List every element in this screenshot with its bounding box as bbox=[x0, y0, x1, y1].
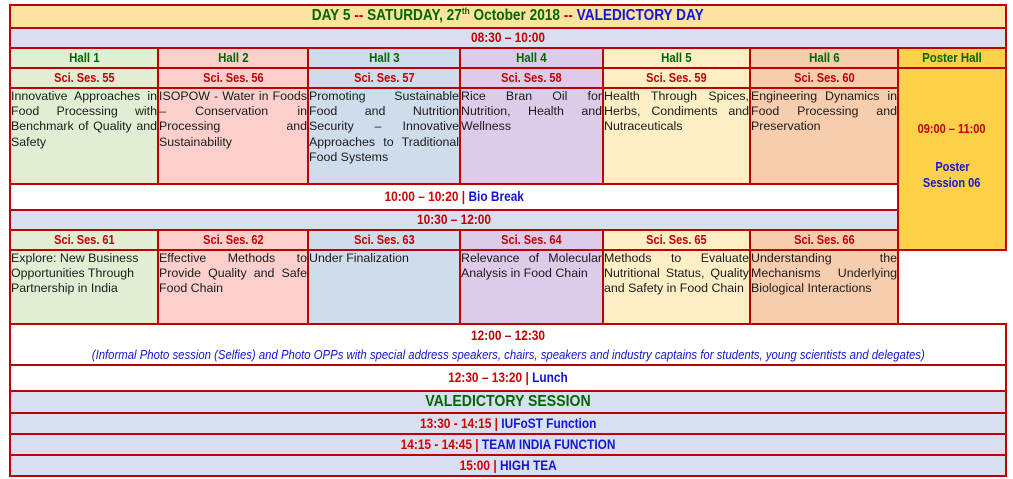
day-date: SATURDAY, 27th October 2018 bbox=[367, 7, 560, 24]
session-topic-61: Explore: New Business Opportunities Thro… bbox=[10, 250, 158, 324]
session-number-66: Sci. Ses. 66 bbox=[750, 230, 898, 250]
session-number-64: Sci. Ses. 64 bbox=[460, 230, 603, 250]
hall-header-hall-1: Hall 1 bbox=[10, 48, 158, 68]
session-number-58: Sci. Ses. 58 bbox=[460, 68, 603, 88]
day-title-separator-1: -- bbox=[354, 7, 363, 24]
lunch-label: Lunch bbox=[532, 370, 568, 385]
valedictory-cell-1: 13:30 - 14:15 | IUFoST Function bbox=[10, 413, 1006, 434]
conference-schedule-table: DAY 5 -- SATURDAY, 27th October 2018 -- … bbox=[9, 4, 1007, 477]
session-number-56: Sci. Ses. 56 bbox=[158, 68, 308, 88]
session2-time: 10:30 – 12:00 bbox=[417, 211, 491, 228]
day-title-cell: DAY 5 -- SATURDAY, 27th October 2018 -- … bbox=[10, 5, 1006, 28]
bio-break-divider: | bbox=[462, 189, 465, 204]
session2-topic-row: Explore: New Business Opportunities Thro… bbox=[10, 250, 1006, 324]
session1-time-cell: 08:30 – 10:00 bbox=[10, 28, 1006, 48]
valedictory-divider-1: | bbox=[494, 416, 497, 431]
poster-session-label-line2: Session 06 bbox=[923, 176, 980, 191]
photo-session-note: (Informal Photo session (Selfies) and Ph… bbox=[92, 346, 925, 364]
session-number-59: Sci. Ses. 59 bbox=[603, 68, 750, 88]
hall-header-hall-2: Hall 2 bbox=[158, 48, 308, 68]
valedictory-label-2: TEAM INDIA FUNCTION bbox=[482, 437, 616, 452]
hall-header-hall-5: Hall 5 bbox=[603, 48, 750, 68]
lunch-cell: 12:30 – 13:20 | Lunch bbox=[10, 365, 1006, 391]
valedictory-divider-3: | bbox=[493, 458, 496, 473]
session-topic-60: Engineering Dynamics in Food Processing … bbox=[750, 88, 898, 184]
lunch-divider: | bbox=[526, 370, 529, 385]
session-number-62: Sci. Ses. 62 bbox=[158, 230, 308, 250]
valedictory-divider-2: | bbox=[475, 437, 478, 452]
session-topic-57: Promoting Sustainable Food and Nutrition… bbox=[308, 88, 460, 184]
bio-break-label: Bio Break bbox=[468, 189, 523, 204]
day-number: DAY 5 bbox=[312, 7, 351, 24]
poster-session-label-line1: Poster bbox=[935, 160, 969, 175]
bio-break-time: 10:00 – 10:20 bbox=[384, 189, 458, 204]
session-topic-59: Health Through Spices, Herbs, Condiments… bbox=[603, 88, 750, 184]
valedictory-heading: VALEDICTORY SESSION bbox=[425, 392, 590, 412]
session1-time: 08:30 – 10:00 bbox=[471, 29, 545, 46]
session-topic-62: Effective Methods to Provide Quality and… bbox=[158, 250, 308, 324]
session2-time-cell: 10:30 – 12:00 bbox=[10, 210, 898, 230]
session-topic-64: Relevance of Molecular Analysis in Food … bbox=[460, 250, 603, 324]
session1-number-row: Sci. Ses. 55 Sci. Ses. 56 Sci. Ses. 57 S… bbox=[10, 68, 1006, 88]
poster-session-cell: 09:00 – 11:00 Poster Session 06 bbox=[898, 68, 1006, 250]
bio-break-cell: 10:00 – 10:20 | Bio Break bbox=[10, 184, 898, 210]
hall-header-poster-hall: Poster Hall bbox=[898, 48, 1006, 68]
photo-session-row: 12:00 – 12:30 (Informal Photo session (S… bbox=[10, 324, 1006, 365]
session-topic-65: Methods to Evaluate Nutritional Status, … bbox=[603, 250, 750, 324]
session-number-57: Sci. Ses. 57 bbox=[308, 68, 460, 88]
valedictory-row-2: 14:15 - 14:45 | TEAM INDIA FUNCTION bbox=[10, 434, 1006, 455]
session-topic-55: Innovative Approaches in Food Processing… bbox=[10, 88, 158, 184]
session-topic-58: Rice Bran Oil for Nutrition, Health and … bbox=[460, 88, 603, 184]
photo-session-time: 12:00 – 12:30 bbox=[471, 325, 545, 346]
valedictory-label-3: HIGH TEA bbox=[500, 458, 557, 473]
bio-break-row: 10:00 – 10:20 | Bio Break bbox=[10, 184, 1006, 210]
session-number-61: Sci. Ses. 61 bbox=[10, 230, 158, 250]
poster-spacer bbox=[899, 137, 1005, 159]
valedictory-heading-row: VALEDICTORY SESSION bbox=[10, 391, 1006, 413]
poster-session-time: 09:00 – 11:00 bbox=[918, 121, 986, 137]
day-title-highlight: VALEDICTORY DAY bbox=[577, 7, 704, 24]
hall-header-hall-6: Hall 6 bbox=[750, 48, 898, 68]
session2-time-row: 10:30 – 12:00 bbox=[10, 210, 1006, 230]
lunch-time: 12:30 – 13:20 bbox=[448, 370, 522, 385]
session1-time-row: 08:30 – 10:00 bbox=[10, 28, 1006, 48]
valedictory-time-3: 15:00 bbox=[459, 458, 489, 473]
valedictory-label-1: IUFoST Function bbox=[501, 416, 596, 431]
lunch-row: 12:30 – 13:20 | Lunch bbox=[10, 365, 1006, 391]
session-number-65: Sci. Ses. 65 bbox=[603, 230, 750, 250]
valedictory-cell-2: 14:15 - 14:45 | TEAM INDIA FUNCTION bbox=[10, 434, 1006, 455]
valedictory-time-1: 13:30 - 14:15 bbox=[420, 416, 491, 431]
session1-topic-row: Innovative Approaches in Food Processing… bbox=[10, 88, 1006, 184]
session2-number-row: Sci. Ses. 61 Sci. Ses. 62 Sci. Ses. 63 S… bbox=[10, 230, 1006, 250]
valedictory-row-3: 15:00 | HIGH TEA bbox=[10, 455, 1006, 476]
day-title-row: DAY 5 -- SATURDAY, 27th October 2018 -- … bbox=[10, 5, 1006, 28]
hall-header-hall-3: Hall 3 bbox=[308, 48, 460, 68]
valedictory-row-1: 13:30 - 14:15 | IUFoST Function bbox=[10, 413, 1006, 434]
hall-header-row: Hall 1 Hall 2 Hall 3 Hall 4 Hall 5 Hall … bbox=[10, 48, 1006, 68]
valedictory-heading-cell: VALEDICTORY SESSION bbox=[10, 391, 1006, 413]
day-title-separator-2: -- bbox=[564, 7, 573, 24]
session-topic-66: Understanding the Mechanisms Underlying … bbox=[750, 250, 898, 324]
session-number-55: Sci. Ses. 55 bbox=[10, 68, 158, 88]
valedictory-cell-3: 15:00 | HIGH TEA bbox=[10, 455, 1006, 476]
photo-session-cell: 12:00 – 12:30 (Informal Photo session (S… bbox=[10, 324, 1006, 365]
hall-header-hall-4: Hall 4 bbox=[460, 48, 603, 68]
session-topic-56: ISOPOW - Water in Foods – Conservation i… bbox=[158, 88, 308, 184]
session-number-63: Sci. Ses. 63 bbox=[308, 230, 460, 250]
poster-session-content: 09:00 – 11:00 Poster Session 06 bbox=[899, 69, 1005, 191]
valedictory-time-2: 14:15 - 14:45 bbox=[401, 437, 472, 452]
session-number-60: Sci. Ses. 60 bbox=[750, 68, 898, 88]
session-topic-63: Under Finalization bbox=[308, 250, 460, 324]
